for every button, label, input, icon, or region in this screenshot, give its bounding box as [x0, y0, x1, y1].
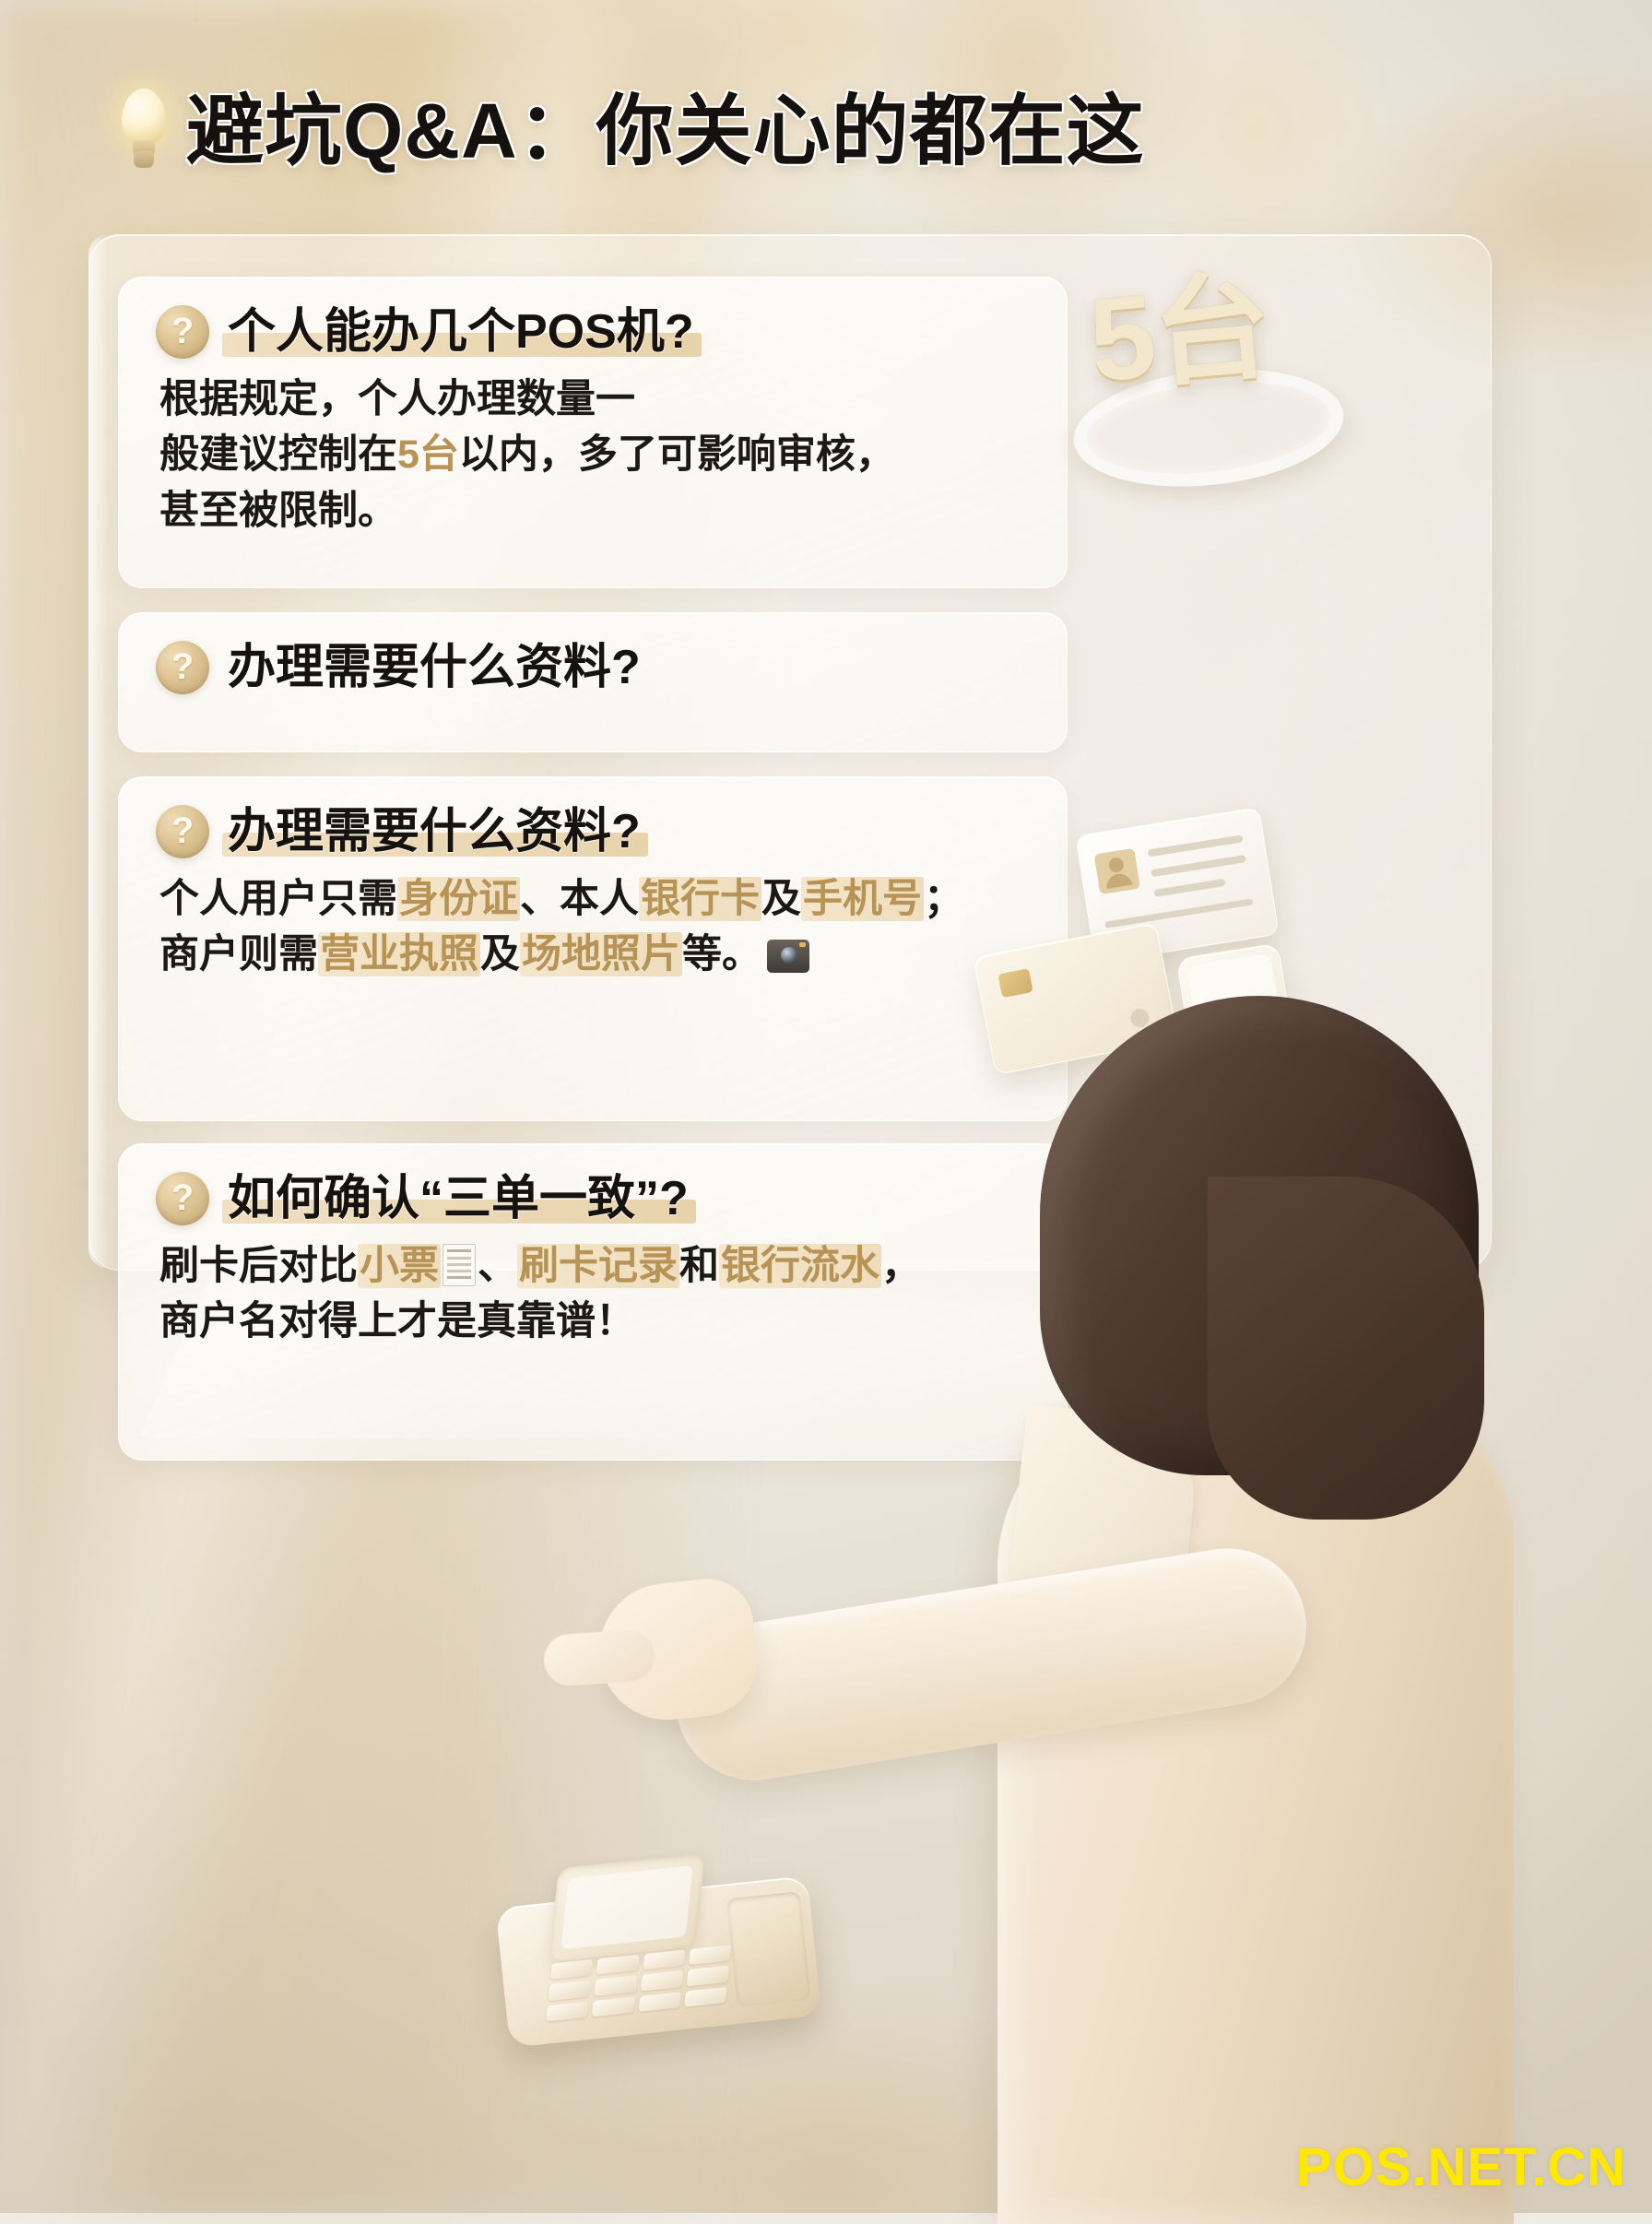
qa-card-1-title: 个人能办几个POS机?: [228, 305, 694, 359]
qa-card-3-body: 个人用户只需身份证、本人银行卡及手机号； 商户则需营业执照及场地照片等。: [119, 858, 1067, 982]
watermark: POS.NET.CN: [1296, 2136, 1626, 2198]
qa-card-3: ? 办理需要什么资料? 个人用户只需身份证、本人银行卡及手机号； 商户则需营业执…: [118, 776, 1068, 1121]
qa-card-3-header: ? 办理需要什么资料?: [119, 777, 1067, 858]
qa-card-1: ? 个人能办几个POS机? 根据规定，个人办理数量一 般建议控制在5台以内，多了…: [118, 277, 1068, 588]
glass-panel-edge: [88, 234, 109, 1269]
lightbulb-icon: [118, 89, 170, 173]
question-mark-icon: ?: [156, 1172, 209, 1225]
qa-card-4-body: 刷卡后对比小票、刷卡记录和银行流水， 商户名对得上才是真靠谱！: [119, 1225, 1067, 1349]
camera-icon: [767, 940, 809, 973]
card-chip-icon: [997, 968, 1032, 998]
pos-terminal-prop: [490, 1816, 851, 2062]
qa-card-2: ? 办理需要什么资料?: [118, 612, 1068, 752]
person-illustration: [931, 996, 1652, 2213]
qa-card-1-body: 根据规定，个人办理数量一 般建议控制在5台以内，多了可影响审核， 甚至被限制。: [119, 359, 1067, 538]
qa-card-3-title: 办理需要什么资料?: [228, 805, 641, 858]
qa-card-2-title: 办理需要什么资料?: [228, 641, 641, 694]
avatar-photo-icon: [1094, 848, 1140, 894]
qa-card-1-header: ? 个人能办几个POS机?: [119, 278, 1067, 359]
qa-card-2-header: ? 办理需要什么资料?: [119, 613, 1067, 694]
question-mark-icon: ?: [156, 305, 209, 359]
page-header: 避坑Q&A：你关心的都在这: [118, 89, 1145, 173]
qa-card-4-header: ? 如何确认“三单一致”?: [119, 1144, 1067, 1225]
person-finger: [542, 1628, 656, 1687]
qa-card-4-title: 如何确认“三单一致”?: [228, 1172, 689, 1225]
five-units-label: 5台: [1085, 267, 1275, 401]
five-units-prop: 5台: [1058, 267, 1335, 498]
question-mark-icon: ?: [156, 641, 209, 694]
qa-card-4: ? 如何确认“三单一致”? 刷卡后对比小票、刷卡记录和银行流水， 商户名对得上才…: [118, 1143, 1068, 1461]
person-hair-back: [1208, 1177, 1484, 1520]
question-mark-icon: ?: [156, 805, 209, 858]
page-title: 避坑Q&A：你关心的都在这: [186, 92, 1145, 170]
receipt-icon: [442, 1244, 476, 1286]
